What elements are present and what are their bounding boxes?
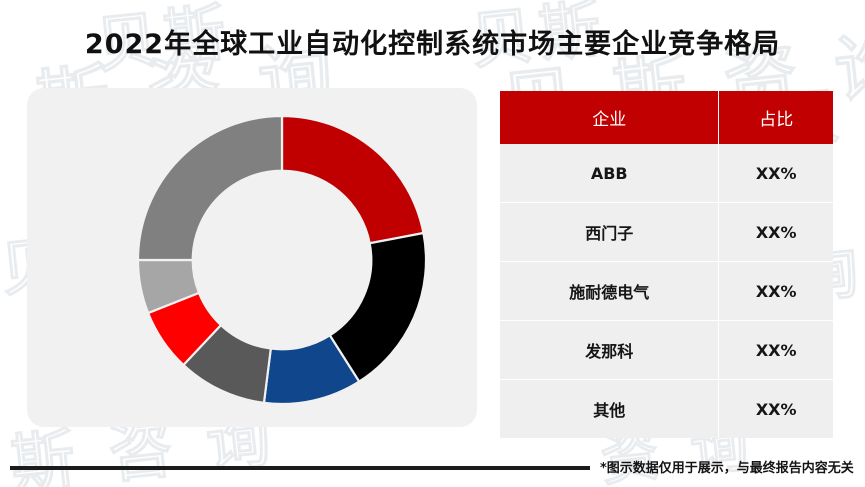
cell-company: 施耐德电气 xyxy=(500,262,719,321)
donut-slice-1 xyxy=(282,116,423,243)
cell-company: 西门子 xyxy=(500,203,719,262)
donut-chart xyxy=(138,116,426,404)
donut-slice-7 xyxy=(138,116,282,260)
donut-slice-group xyxy=(138,116,426,404)
cell-company: ABB xyxy=(500,144,719,203)
table-body: ABBXX%西门子XX%施耐德电气XX%发那科XX%其他XX% xyxy=(500,144,833,438)
table-row: 发那科XX% xyxy=(500,321,833,380)
cell-share: XX% xyxy=(719,144,833,203)
chart-panel xyxy=(27,88,477,427)
cell-share: XX% xyxy=(719,262,833,321)
table-header-company: 企业 xyxy=(500,91,719,144)
table-row: 西门子XX% xyxy=(500,203,833,262)
page-title: 2022年全球工业自动化控制系统市场主要企业竞争格局 xyxy=(0,22,865,61)
footer-note: *图示数据仅用于展示，与最终报告内容无关 xyxy=(600,457,854,476)
cell-company: 发那科 xyxy=(500,321,719,380)
table-header-row: 企业 占比 xyxy=(500,91,833,144)
company-share-table: 企业 占比 ABBXX%西门子XX%施耐德电气XX%发那科XX%其他XX% xyxy=(500,91,833,438)
table-row: 其他XX% xyxy=(500,380,833,439)
cell-share: XX% xyxy=(719,380,833,439)
cell-company: 其他 xyxy=(500,380,719,439)
footer-divider xyxy=(10,466,590,470)
table-header-share: 占比 xyxy=(719,91,833,144)
cell-share: XX% xyxy=(719,203,833,262)
table-row: ABBXX% xyxy=(500,144,833,203)
cell-share: XX% xyxy=(719,321,833,380)
donut-chart-svg xyxy=(138,116,426,404)
table-header: 企业 占比 xyxy=(500,91,833,144)
table-row: 施耐德电气XX% xyxy=(500,262,833,321)
